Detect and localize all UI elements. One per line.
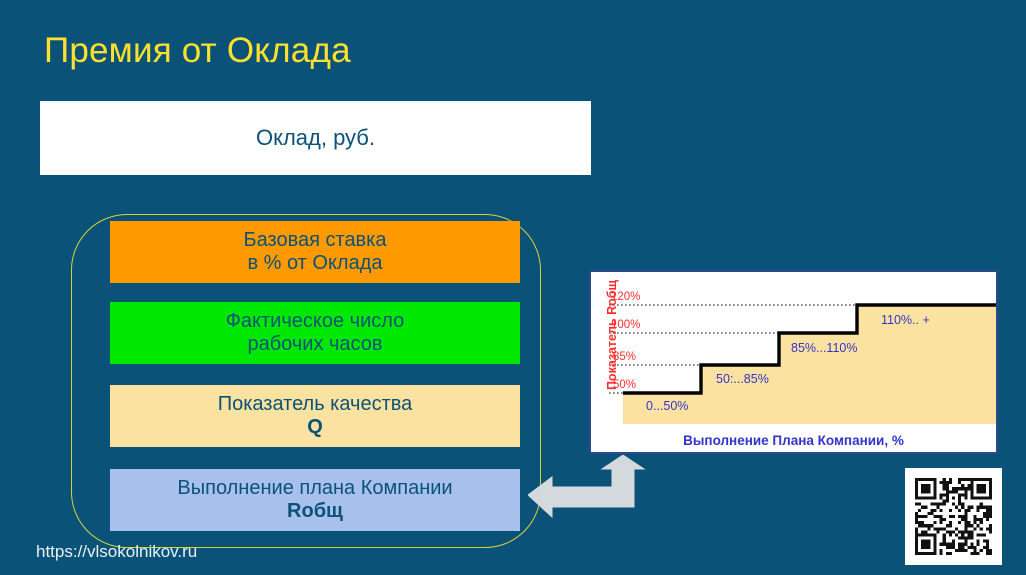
step-chart-panel: 120% 100% 85% 50% 0...50% 50:...85% 85%.… <box>589 270 998 454</box>
chart-x-axis-title: Выполнение Плана Компании, % <box>591 433 996 448</box>
component-actual-hours: Фактическое число рабочих часов <box>110 302 520 364</box>
chart-y-axis-title: Показатель Rобщ <box>605 260 619 410</box>
qr-code[interactable] <box>905 468 1002 565</box>
step-chart-svg: 120% 100% 85% 50% 0...50% 50:...85% 85%.… <box>591 272 996 452</box>
site-url-label[interactable]: https://vlsokolnikov.ru <box>36 542 197 562</box>
component-quality-line2: Q <box>307 416 323 439</box>
component-base-rate-line1: Базовая ставка <box>244 229 387 252</box>
component-actual-hours-line1: Фактическое число <box>226 310 405 333</box>
chart-y-axis-title-bold: Rобщ <box>605 280 619 315</box>
page-title: Премия от Оклада <box>44 31 351 71</box>
chart-label-85-110: 85%...110% <box>791 341 857 355</box>
component-base-rate-line2: в % от Оклада <box>247 252 382 275</box>
component-company-plan: Выполнение плана Компании Rобщ <box>110 469 520 531</box>
chart-plot-area: 120% 100% 85% 50% 0...50% 50:...85% 85%.… <box>591 272 996 452</box>
component-quality-indicator: Показатель качества Q <box>110 385 520 447</box>
salary-box: Оклад, руб. <box>40 101 591 175</box>
qr-code-image <box>915 478 992 555</box>
slide-canvas: Премия от Оклада Оклад, руб. Базовая ста… <box>0 0 1026 575</box>
chart-y-axis-title-prefix: Показатель <box>605 315 619 390</box>
salary-box-label: Оклад, руб. <box>256 125 375 151</box>
component-base-rate: Базовая ставка в % от Оклада <box>110 221 520 283</box>
chart-label-50-85: 50:...85% <box>716 372 769 386</box>
chart-label-110-plus: 110%.. + <box>881 313 930 327</box>
component-company-plan-line2: Rобщ <box>287 500 343 523</box>
chart-label-0-50: 0...50% <box>646 399 688 413</box>
component-quality-line1: Показатель качества <box>218 393 413 416</box>
component-company-plan-line1: Выполнение плана Компании <box>177 477 452 500</box>
elbow-arrow-icon <box>528 455 648 527</box>
component-actual-hours-line2: рабочих часов <box>247 333 382 356</box>
